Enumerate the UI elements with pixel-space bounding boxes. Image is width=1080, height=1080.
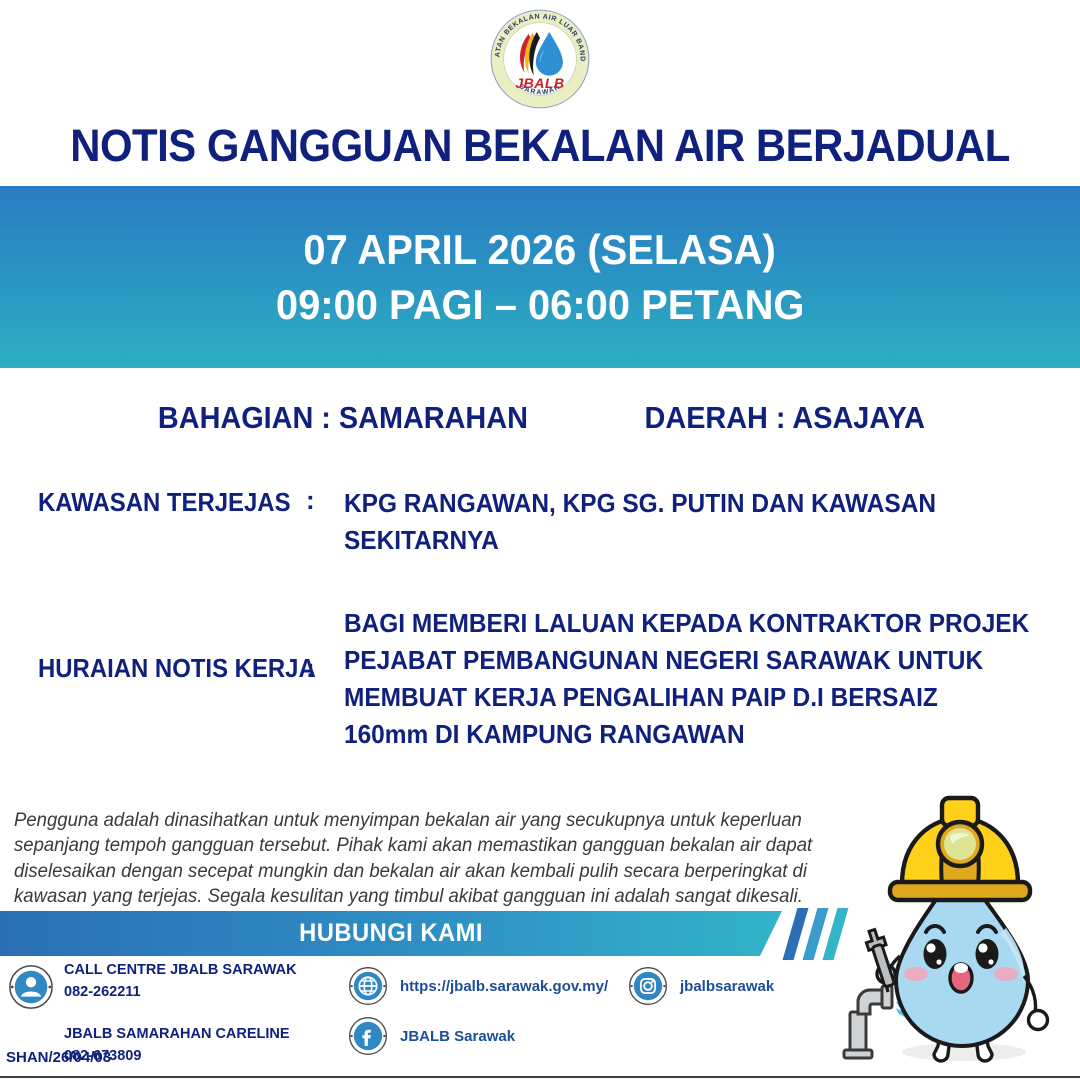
work-description-value: BAGI MEMBERI LALUAN KEPADA KONTRAKTOR PR… xyxy=(344,605,1029,753)
call-centre-contact: CALL CENTRE JBALB SARAWAK 082-262211 xyxy=(8,960,338,1010)
call-centre-text: CALL CENTRE JBALB SARAWAK 082-262211 xyxy=(64,960,297,1004)
facebook-icon[interactable] xyxy=(348,1016,388,1056)
advisory-line: kawasan yang terjejas. Segala kesulitan … xyxy=(14,884,765,909)
notice-date: 07 APRIL 2026 (SELASA) xyxy=(304,222,776,277)
hard-hat-icon xyxy=(890,798,1030,900)
notice-time-range: 09:00 PAGI – 06:00 PETANG xyxy=(276,277,805,332)
affected-area-line: KPG RANGAWAN, KPG SG. PUTIN DAN KAWASAN xyxy=(344,485,936,522)
facebook-contact[interactable]: JBALB Sarawak xyxy=(348,1016,608,1056)
advisory-line: diselesaikan dengan secepat mungkin dan … xyxy=(14,859,765,884)
instagram-contact[interactable]: jbalbsarawak xyxy=(628,966,774,1006)
page-title: NOTIS GANGGUAN BEKALAN AIR BERJADUAL xyxy=(38,120,1042,172)
affected-area-row: KAWASAN TERJEJAS : KPG RANGAWAN, KPG SG.… xyxy=(38,485,974,559)
svg-text:JBALB: JBALB xyxy=(515,75,564,91)
advisory-line: Pengguna adalah dinasihatkan untuk menyi… xyxy=(14,808,765,833)
work-description-row: HURAIAN NOTIS KERJA : BAGI MEMBERI LALUA… xyxy=(38,605,1073,753)
water-disruption-notice-poster: JABATAN BEKALAN AIR LUAR BANDAR SARAWAK … xyxy=(0,0,1080,1080)
website-contact[interactable]: https://jbalb.sarawak.gov.my/ xyxy=(348,966,608,1006)
work-description-line: MEMBUAT KERJA PENGALIHAN PAIP D.I BERSAI… xyxy=(344,679,1029,716)
affected-area-value: KPG RANGAWAN, KPG SG. PUTIN DAN KAWASAN … xyxy=(344,485,936,559)
advisory-line: sepanjang tempoh gangguan tersebut. Piha… xyxy=(14,833,765,858)
bahagian-label: BAHAGIAN : SAMARAHAN xyxy=(158,400,528,436)
affected-area-line: SEKITARNYA xyxy=(344,522,936,559)
work-description-line: 160mm DI KAMPUNG RANGAWAN xyxy=(344,716,1029,753)
work-description-line: PEJABAT PEMBANGUNAN NEGERI SARAWAK UNTUK xyxy=(344,642,1029,679)
call-centre-phone[interactable]: 082-262211 xyxy=(64,982,297,1004)
advisory-paragraph: Pengguna adalah dinasihatkan untuk menyi… xyxy=(14,808,765,909)
person-icon xyxy=(8,964,54,1010)
region-row: BAHAGIAN : SAMARAHAN DAERAH : ASAJAYA xyxy=(0,400,1080,436)
water-droplet-worker-mascot xyxy=(838,788,1080,1080)
facebook-handle[interactable]: JBALB Sarawak xyxy=(400,1028,515,1045)
logo-container: JABATAN BEKALAN AIR LUAR BANDAR SARAWAK … xyxy=(0,4,1080,114)
instagram-icon[interactable] xyxy=(628,966,668,1006)
work-description-label: HURAIAN NOTIS KERJA xyxy=(38,605,285,684)
affected-area-colon: : xyxy=(306,485,344,516)
reference-code: SHAN/26/04/03 xyxy=(6,1049,111,1066)
date-time-banner: 07 APRIL 2026 (SELASA) 09:00 PAGI – 06:0… xyxy=(0,186,1080,368)
bottom-divider xyxy=(0,1076,1080,1078)
website-url[interactable]: https://jbalb.sarawak.gov.my/ xyxy=(400,978,608,995)
contact-bar-title: HUBUNGI KAMI xyxy=(20,911,763,956)
careline-name: JBALB SAMARAHAN CARELINE xyxy=(64,1024,290,1046)
jbalb-sarawak-seal-logo: JABATAN BEKALAN AIR LUAR BANDAR SARAWAK … xyxy=(488,7,592,111)
globe-icon[interactable] xyxy=(348,966,388,1006)
instagram-handle[interactable]: jbalbsarawak xyxy=(680,978,774,995)
daerah-label: DAERAH : ASAJAYA xyxy=(645,400,925,436)
affected-area-label: KAWASAN TERJEJAS xyxy=(38,485,285,518)
web-social-column: https://jbalb.sarawak.gov.my/ JBALB Sara… xyxy=(348,966,608,1066)
work-description-line: BAGI MEMBERI LALUAN KEPADA KONTRAKTOR PR… xyxy=(344,605,1029,642)
instagram-column: jbalbsarawak xyxy=(628,966,774,1016)
call-centre-name: CALL CENTRE JBALB SARAWAK xyxy=(64,960,297,982)
